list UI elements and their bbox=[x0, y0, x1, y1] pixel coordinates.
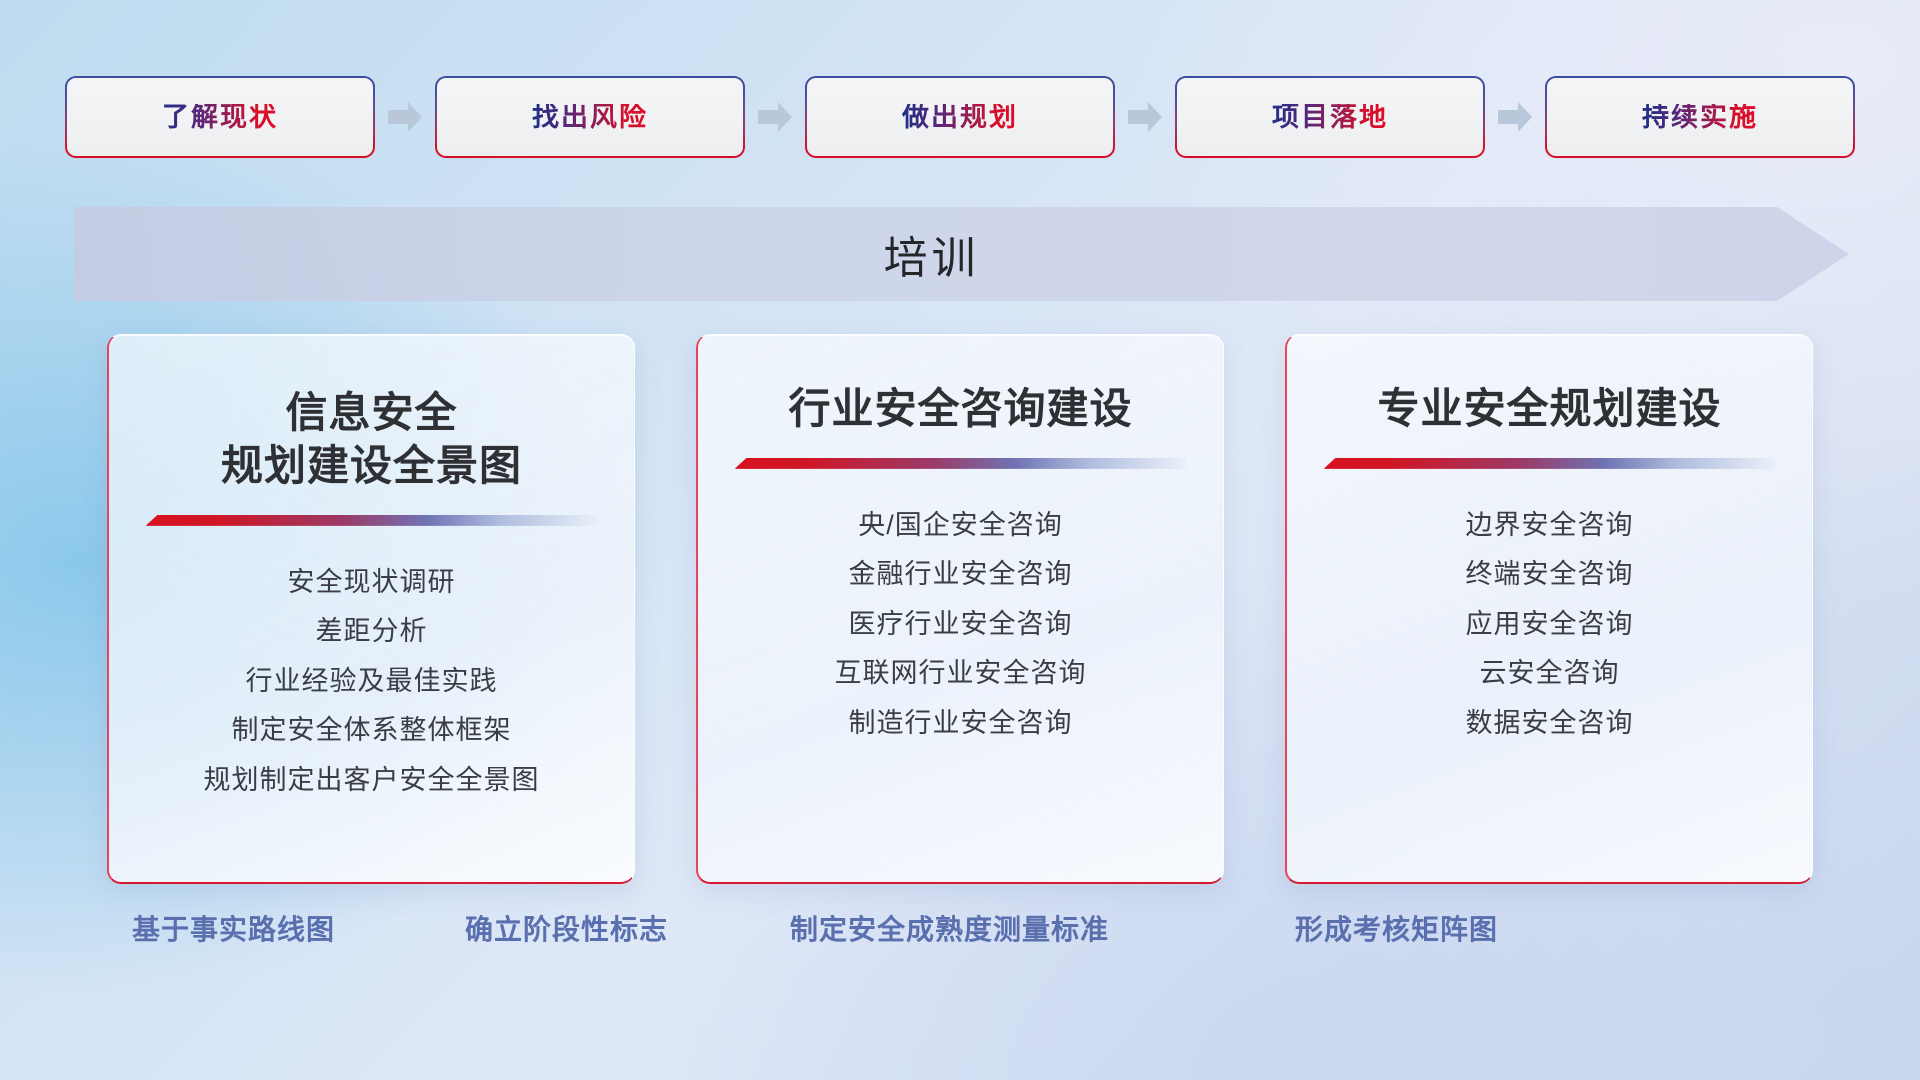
training-banner: 培训 bbox=[74, 207, 1849, 301]
step-arrow-icon bbox=[743, 78, 807, 156]
card-accent-rule bbox=[1324, 458, 1776, 469]
service-card-3[interactable]: 专业安全规划建设边界安全咨询终端安全咨询应用安全咨询云安全咨询数据安全咨询 bbox=[1285, 334, 1813, 884]
card-item-list: 央/国企安全咨询金融行业安全咨询医疗行业安全咨询互联网行业安全咨询制造行业安全咨… bbox=[698, 505, 1223, 744]
card-title: 信息安全 规划建设全景图 bbox=[109, 387, 634, 493]
list-item: 行业经验及最佳实践 bbox=[246, 661, 498, 702]
list-item: 边界安全咨询 bbox=[1466, 505, 1634, 546]
step-pill-1[interactable]: 了解现状 bbox=[67, 78, 373, 156]
caption-2: 确立阶段性标志 bbox=[465, 908, 668, 948]
list-item: 制定安全体系整体框架 bbox=[232, 710, 512, 751]
card-item-list: 边界安全咨询终端安全咨询应用安全咨询云安全咨询数据安全咨询 bbox=[1287, 505, 1812, 744]
list-item: 医疗行业安全咨询 bbox=[849, 604, 1073, 645]
card-item-list: 安全现状调研差距分析行业经验及最佳实践制定安全体系整体框架规划制定出客户安全全景… bbox=[109, 562, 634, 801]
list-item: 互联网行业安全咨询 bbox=[835, 653, 1087, 694]
step-pill-5[interactable]: 持续实施 bbox=[1547, 78, 1853, 156]
step-label: 找出风险 bbox=[532, 104, 648, 131]
step-arrow-icon bbox=[373, 78, 437, 156]
caption-4: 形成考核矩阵图 bbox=[1295, 908, 1498, 948]
service-card-2[interactable]: 行业安全咨询建设央/国企安全咨询金融行业安全咨询医疗行业安全咨询互联网行业安全咨… bbox=[696, 334, 1224, 884]
captions-row: 基于事实路线图确立阶段性标志制定安全成熟度测量标准形成考核矩阵图 bbox=[0, 908, 1920, 968]
banner-title: 培训 bbox=[74, 207, 1849, 301]
service-card-1[interactable]: 信息安全 规划建设全景图安全现状调研差距分析行业经验及最佳实践制定安全体系整体框… bbox=[107, 334, 635, 884]
list-item: 数据安全咨询 bbox=[1466, 703, 1634, 744]
list-item: 终端安全咨询 bbox=[1466, 554, 1634, 595]
step-pill-4[interactable]: 项目落地 bbox=[1177, 78, 1483, 156]
process-steps-bar: 了解现状找出风险做出规划项目落地持续实施 bbox=[0, 78, 1920, 156]
step-label: 项目落地 bbox=[1272, 104, 1388, 131]
step-pill-2[interactable]: 找出风险 bbox=[437, 78, 743, 156]
list-item: 差距分析 bbox=[316, 611, 428, 652]
step-label: 了解现状 bbox=[162, 104, 278, 131]
list-item: 制造行业安全咨询 bbox=[849, 703, 1073, 744]
list-item: 安全现状调研 bbox=[288, 562, 456, 603]
card-title: 行业安全咨询建设 bbox=[698, 383, 1223, 436]
list-item: 云安全咨询 bbox=[1480, 653, 1620, 694]
card-accent-rule bbox=[146, 515, 598, 526]
list-item: 金融行业安全咨询 bbox=[849, 554, 1073, 595]
card-accent-rule bbox=[735, 458, 1187, 469]
caption-3: 制定安全成熟度测量标准 bbox=[790, 908, 1109, 948]
step-label: 持续实施 bbox=[1642, 104, 1758, 131]
step-arrow-icon bbox=[1113, 78, 1177, 156]
step-arrow-icon bbox=[1483, 78, 1547, 156]
list-item: 央/国企安全咨询 bbox=[858, 505, 1063, 546]
step-label: 做出规划 bbox=[902, 104, 1018, 131]
card-title: 专业安全规划建设 bbox=[1287, 383, 1812, 436]
list-item: 应用安全咨询 bbox=[1466, 604, 1634, 645]
step-pill-3[interactable]: 做出规划 bbox=[807, 78, 1113, 156]
list-item: 规划制定出客户安全全景图 bbox=[204, 760, 540, 801]
caption-1: 基于事实路线图 bbox=[132, 908, 335, 948]
cards-row: 信息安全 规划建设全景图安全现状调研差距分析行业经验及最佳实践制定安全体系整体框… bbox=[0, 334, 1920, 884]
